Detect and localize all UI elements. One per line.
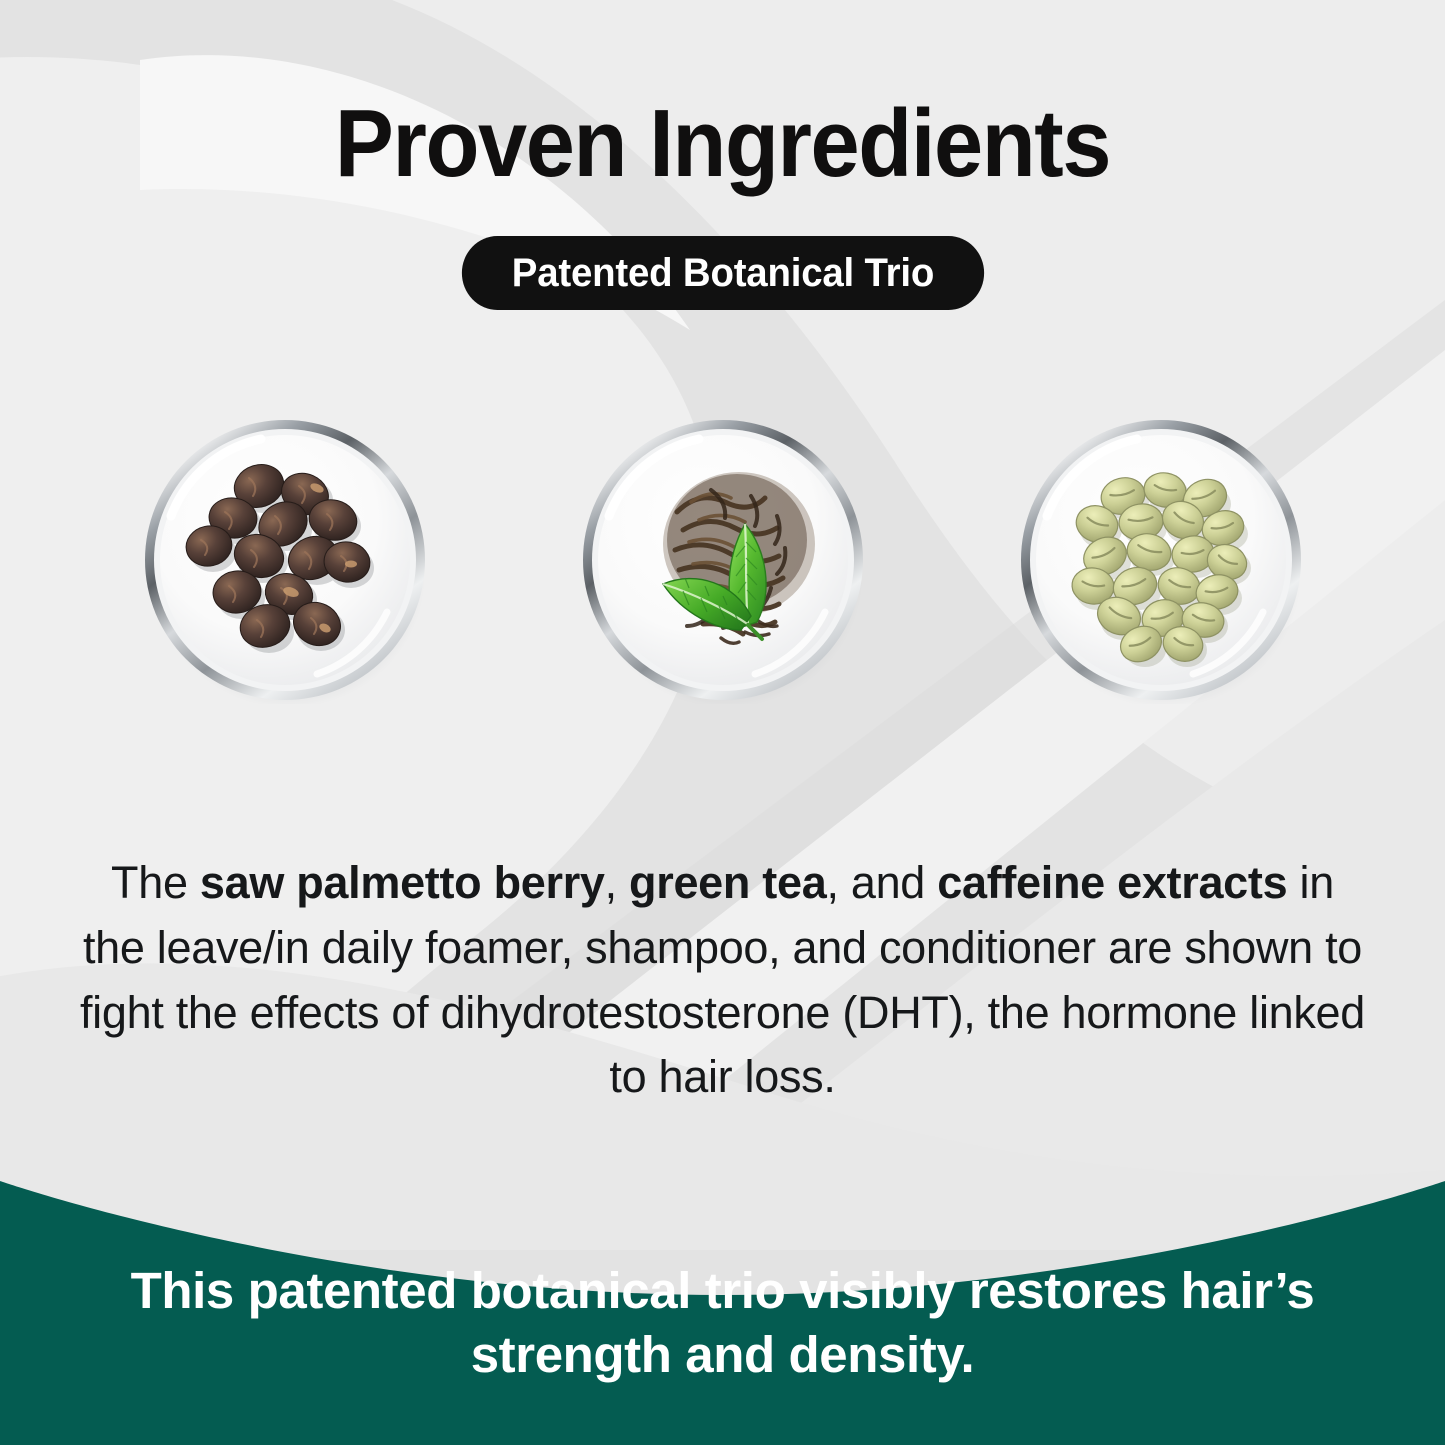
badge-row: Patented Botanical Trio [0, 236, 1445, 310]
footer-headline: This patented botanical trio visibly res… [108, 1259, 1338, 1387]
body-segment: , and [826, 857, 937, 908]
page-title: Proven Ingredients [58, 0, 1387, 192]
body-segment-bold: caffeine extracts [937, 857, 1287, 908]
body-segment: , [605, 857, 629, 908]
petri-dish-icon [141, 416, 429, 704]
body-segment-bold: saw palmetto berry [200, 857, 605, 908]
header: Proven Ingredients Patented Botanical Tr… [0, 0, 1445, 310]
petri-dish-icon [1017, 416, 1305, 704]
footer-banner: This patented botanical trio visibly res… [0, 1155, 1445, 1445]
body-paragraph: The saw palmetto berry, green tea, and c… [78, 851, 1368, 1110]
body-segment-bold: green tea [629, 857, 826, 908]
status-badge: Patented Botanical Trio [461, 236, 983, 310]
ingredients-infographic: Proven Ingredients Patented Botanical Tr… [0, 0, 1445, 1445]
ingredient-dish-saw-palmetto-berry [141, 416, 429, 704]
petri-dish-icon [579, 416, 867, 704]
body-segment: The [111, 857, 200, 908]
ingredient-dish-caffeine-extract [1017, 416, 1305, 704]
ingredient-dish-row [0, 416, 1445, 704]
ingredient-dish-green-tea [579, 416, 867, 704]
